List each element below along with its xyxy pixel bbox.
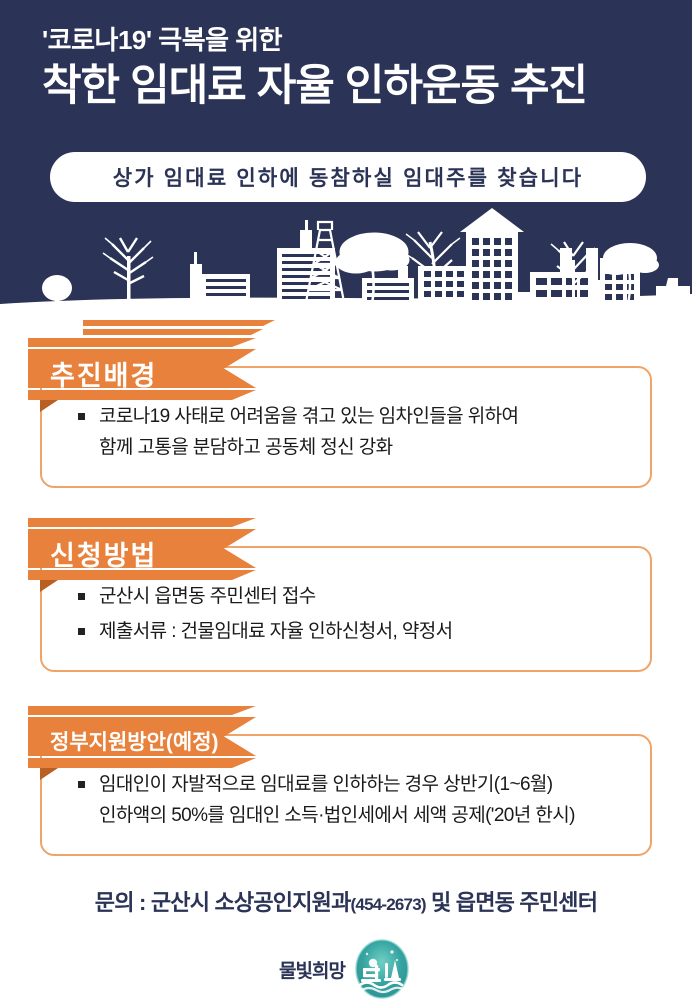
header-highlight-pill: 상가 임대료 인하에 동참하실 임대주를 찾습니다	[50, 152, 646, 202]
bullet-square-icon	[78, 628, 85, 635]
page-title: 착한 임대료 자율 인하운동 추진	[42, 60, 662, 114]
city-skyline-far-right-icon	[0, 208, 692, 318]
gunsan-city-logo-icon	[351, 938, 413, 1000]
section-ribbon: 추진배경	[28, 338, 256, 410]
bullet-square-icon	[78, 413, 85, 420]
ribbon-label: 정부지원방안(예정)	[50, 720, 216, 762]
bullet-square-icon	[78, 781, 85, 788]
city-logo: 물빛희망	[0, 938, 692, 1000]
orange-divider-rule	[83, 320, 275, 335]
list-item-line2: 함께 고통을 분담하고 공동체 정신 강화	[99, 433, 628, 464]
footer-contact-prefix: 문의 : 군산시 소상공인지원과	[95, 890, 351, 915]
poster-header: '코로나19' 극복을 위한 착한 임대료 자율 인하운동 추진 상가 임대료 …	[0, 0, 692, 318]
footer-contact-suffix: 및 읍면동 주민센터	[426, 890, 597, 915]
list-item-text: 제출서류 : 건물임대료 자율 인하신청서, 약정서	[99, 617, 628, 648]
ribbon-label: 추진배경	[50, 352, 216, 394]
footer-contact-phone: (454-2673)	[351, 895, 426, 914]
ribbon-label: 신청방법	[50, 532, 216, 574]
poster-root: '코로나19' 극복을 위한 착한 임대료 자율 인하운동 추진 상가 임대료 …	[0, 0, 692, 1000]
logo-slogan: 물빛희망	[279, 956, 345, 983]
header-subtitle: '코로나19' 극복을 위한	[42, 24, 662, 58]
section-ribbon: 신청방법	[28, 518, 256, 590]
header-title-group: '코로나19' 극복을 위한 착한 임대료 자율 인하운동 추진	[42, 24, 662, 114]
bullet-square-icon	[78, 593, 85, 600]
header-pill-text: 상가 임대료 인하에 동참하실 임대주를 찾습니다	[113, 162, 584, 192]
list-item-line2: 인하액의 50%를 임대인 소득·법인세에서 세액 공제('20년 한시)	[99, 801, 628, 832]
list-item: 제출서류 : 건물임대료 자율 인하신청서, 약정서	[78, 617, 628, 648]
section-ribbon: 정부지원방안(예정)	[28, 706, 256, 778]
footer-contact-line: 문의 : 군산시 소상공인지원과(454-2673) 및 읍면동 주민센터	[0, 885, 692, 917]
